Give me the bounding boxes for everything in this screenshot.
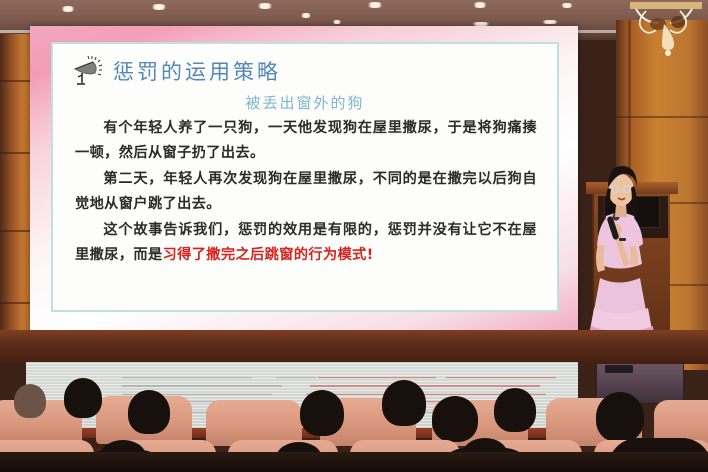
slide-title: 惩罚的运用策略 [113,62,281,83]
slide-subtitle: 被丢出窗外的狗 [53,92,557,113]
audience-head [432,396,478,442]
slide-body: 有个年轻人养了一只狗，一天他发现狗在屋里撒尿，于是将狗痛揍一顿，然后从窗子扔了出… [75,116,537,269]
audience-head [300,390,344,436]
ceiling-light [150,4,168,10]
ceiling-light [366,2,384,8]
slide-paragraph: 第二天，年轻人再次发现狗在屋里撒尿，不同的是在撒完以后狗自觉地从窗户跳了出去。 [75,167,537,217]
chandelier-icon [622,2,706,58]
slide-content-card: 惩罚的运用策略 被丢出窗外的狗 有个年轻人养了一只狗，一天他发现狗在屋里撒尿，于… [51,42,559,312]
audience-head [382,380,426,426]
ceiling-light [560,3,574,8]
slide-header: 惩罚的运用策略 [69,54,545,90]
foreground-shadow [0,452,708,472]
audience-head [596,392,644,442]
projection-screen: 惩罚的运用策略 被丢出窗外的狗 有个年轻人养了一只狗，一天他发现狗在屋里撒尿，于… [30,26,578,336]
presentation-photo-scene: 惩罚的运用策略 被丢出窗外的狗 有个年轻人养了一只狗，一天他发现狗在屋里撒尿，于… [0,0,708,472]
slide-closing-paragraph: 这个故事告诉我们，惩罚的效用是有限的，惩罚并没有让它不在屋里撒尿，而是习得了撒完… [75,218,537,268]
audience-head [128,390,170,434]
ceiling-light [60,6,76,12]
ceiling-light [472,2,488,8]
audience-head [494,388,536,432]
audience-head [64,378,102,418]
stage-front-edge [0,330,708,364]
ceiling-light [300,13,312,18]
ceiling-light [256,3,274,9]
closing-highlight-text: 习得了撒完之后跳窗的行为模式! [163,247,374,263]
ceiling-light [540,20,560,24]
slide-paragraph: 有个年轻人养了一只狗，一天他发现狗在屋里撒尿，于是将狗痛揍一顿，然后从窗子扔了出… [75,116,537,166]
audience-head [14,384,46,418]
sketch-lamp-icon [69,56,103,88]
ceiling-light [332,20,342,24]
